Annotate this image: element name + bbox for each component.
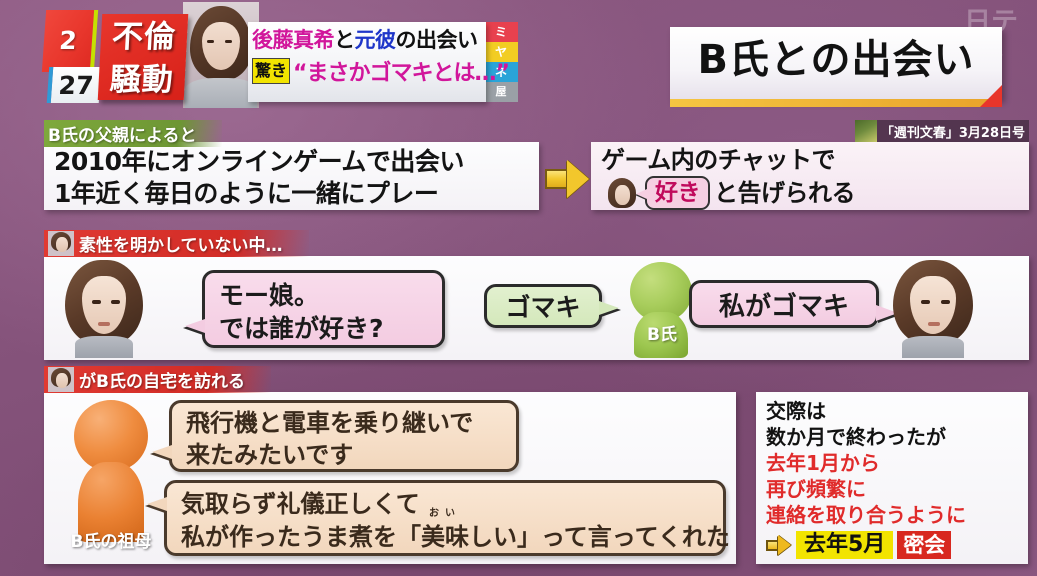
inline-portrait-face — [615, 185, 630, 205]
headline-connector: と — [334, 28, 355, 52]
main-title: B氏との出会い — [670, 27, 1002, 99]
section1-left-line2: 1年近く毎日のように一緒にプレー — [54, 178, 529, 210]
section3-header: がB氏の自宅を訪れる — [44, 366, 271, 393]
clock-hour: 2 — [42, 10, 98, 72]
arrow-head — [778, 535, 791, 555]
main-title-text: B氏との出会い — [670, 27, 1002, 93]
source-citation-text: 「週刊文春」3月28日号 — [877, 122, 1025, 141]
portrait-goto-right — [885, 258, 981, 358]
headline-name: 後藤真希 — [252, 28, 334, 52]
photo-eye-right — [225, 40, 232, 43]
photo-eye-left — [207, 40, 214, 43]
section1-header: B氏の父親によると — [44, 120, 222, 147]
summary-line3: 去年1月から — [766, 450, 1028, 476]
section2-panel: モー娘。 では誰が好き? ゴマキ B氏 私がゴマキ — [44, 256, 1029, 360]
portrait-goto-left — [58, 258, 150, 358]
section1-right-line2-tail: と告げられる — [714, 178, 855, 209]
program-logo-tile-1: ミ — [484, 22, 518, 42]
bubble-travel-line1: 飛行機と電車を乗り継いで — [186, 407, 504, 439]
main-title-underbar — [670, 99, 1002, 107]
bubble-polite-line2-a: 私が作ったうま — [181, 523, 349, 551]
speech-bubble-polite: 気取らず礼儀正しくて 私が作ったうま煮を「おい美味しい」って言ってくれた — [164, 480, 726, 556]
figure-grandmother: B氏の祖母 — [58, 400, 164, 556]
bubble-travel-line2: 来たみたいです — [186, 439, 504, 471]
arrow-shaft — [545, 169, 569, 189]
magazine-thumbnail-icon — [855, 120, 877, 142]
summary-line1: 交際は — [766, 398, 1028, 424]
section1-left-line1: 2010年にオンラインゲームで出会い — [54, 146, 529, 178]
scandal-badge-line2: 騒動 — [98, 57, 186, 100]
portrait-eye-right — [111, 300, 120, 304]
summary-event-badge: 密会 — [897, 531, 951, 559]
bubble-polite-line2-b: 煮を「 — [349, 523, 421, 551]
section2-header: 素性を明かしていない中… — [44, 230, 309, 257]
summary-footer: 去年5月 密会 — [766, 531, 1028, 559]
headline-banner: 後藤真希と元彼の出会い 驚き “まさかゴマキとは…” — [248, 22, 486, 102]
bubble-tail — [147, 497, 167, 511]
summary-line5: 連絡を取り合うように — [766, 502, 1028, 528]
portrait-eye-left — [92, 300, 101, 304]
photo-body — [185, 78, 257, 108]
arrow-right-icon — [766, 535, 792, 555]
bubble-mosume-line2: では誰が好き? — [219, 312, 430, 345]
speech-bubble-gomaki: ゴマキ — [484, 284, 602, 328]
clock-minute: 27 — [47, 67, 102, 103]
arrow-right-icon — [545, 160, 589, 198]
speech-bubble-mosume: モー娘。 では誰が好き? — [202, 270, 445, 348]
main-title-corner-flag — [980, 85, 1002, 107]
ruby-annotation-oishii: おい美味 — [421, 521, 469, 554]
section3-header-label: がB氏の自宅を訪れる — [79, 367, 245, 392]
headline-subject: 元彼 — [355, 28, 396, 52]
figure-grandmother-label: B氏の祖母 — [58, 527, 164, 552]
scandal-badge-line1: 不倫 — [100, 14, 188, 57]
summary-panel: 交際は 数か月で終わったが 去年1月から 再び頻繁に 連絡を取り合うように 去年… — [756, 392, 1028, 564]
bubble-gomaki-text: ゴマキ — [505, 288, 580, 324]
headline-line2: 驚き “まさかゴマキとは…” — [252, 55, 482, 87]
section1-left-panel: 2010年にオンラインゲームで出会い 1年近く毎日のように一緒にプレー — [44, 142, 539, 210]
bubble-polite-line2-c: しい」って言ってくれた — [469, 523, 730, 551]
clock-minute-value: 27 — [51, 73, 101, 98]
mini-face-skin — [56, 237, 68, 252]
portrait-mouth — [98, 322, 110, 326]
broadcast-clock: 2 27 — [44, 10, 96, 102]
portrait-mouth — [928, 322, 940, 326]
headline-quote: “まさかゴマキとは…” — [293, 55, 509, 87]
bubble-mosume-line1: モー娘。 — [219, 279, 430, 312]
section3-header-face-icon — [48, 367, 74, 392]
summary-line4: 再び頻繁に — [766, 476, 1028, 502]
summary-line2: 数か月で終わったが — [766, 424, 1028, 450]
arrow-head — [567, 160, 589, 198]
headline-tag: 驚き — [252, 58, 290, 84]
portrait-eye-left — [921, 300, 930, 304]
speech-bubble-watashi: 私がゴマキ — [689, 280, 879, 328]
clock-hour-value: 2 — [43, 28, 93, 53]
section1-right-line1: ゲーム内のチャットで — [601, 145, 1019, 176]
section1-header-label: B氏の父親によると — [48, 121, 196, 146]
section2-header-label: 素性を明かしていない中… — [79, 231, 283, 256]
section1-highlight-suki: 好き — [645, 176, 710, 210]
source-citation: 「週刊文春」3月28日号 — [855, 120, 1029, 142]
section1-right-panel: ゲーム内のチャットで 好き と告げられる — [591, 142, 1029, 210]
section1-right-line2: 好き と告げられる — [601, 176, 1019, 210]
portrait-neck — [75, 336, 134, 358]
bubble-watashi-text: 私がゴマキ — [719, 286, 849, 323]
section2-header-face-icon — [48, 231, 74, 256]
bubble-tail — [152, 445, 172, 459]
headline-line1: 後藤真希と元彼の出会い — [252, 25, 482, 55]
section3-left-panel: B氏の祖母 飛行機と電車を乗り継いで 来たみたいです 気取らず礼儀正しくて 私が… — [44, 392, 736, 564]
bubble-tail — [185, 319, 205, 333]
bubble-polite-line2: 私が作ったうま煮を「おい美味しい」って言ってくれた — [181, 521, 711, 554]
ruby-base: 美味 — [421, 523, 469, 551]
headline-tail: の出会い — [396, 28, 478, 52]
speech-bubble-travel: 飛行機と電車を乗り継いで 来たみたいです — [169, 400, 519, 472]
portrait-neck — [902, 336, 963, 358]
scandal-badge: 不倫 騒動 — [98, 14, 189, 100]
ruby-text: おい — [421, 509, 469, 519]
portrait-eye-right — [941, 300, 950, 304]
mini-face-skin — [56, 373, 68, 388]
summary-date-badge: 去年5月 — [796, 531, 893, 559]
